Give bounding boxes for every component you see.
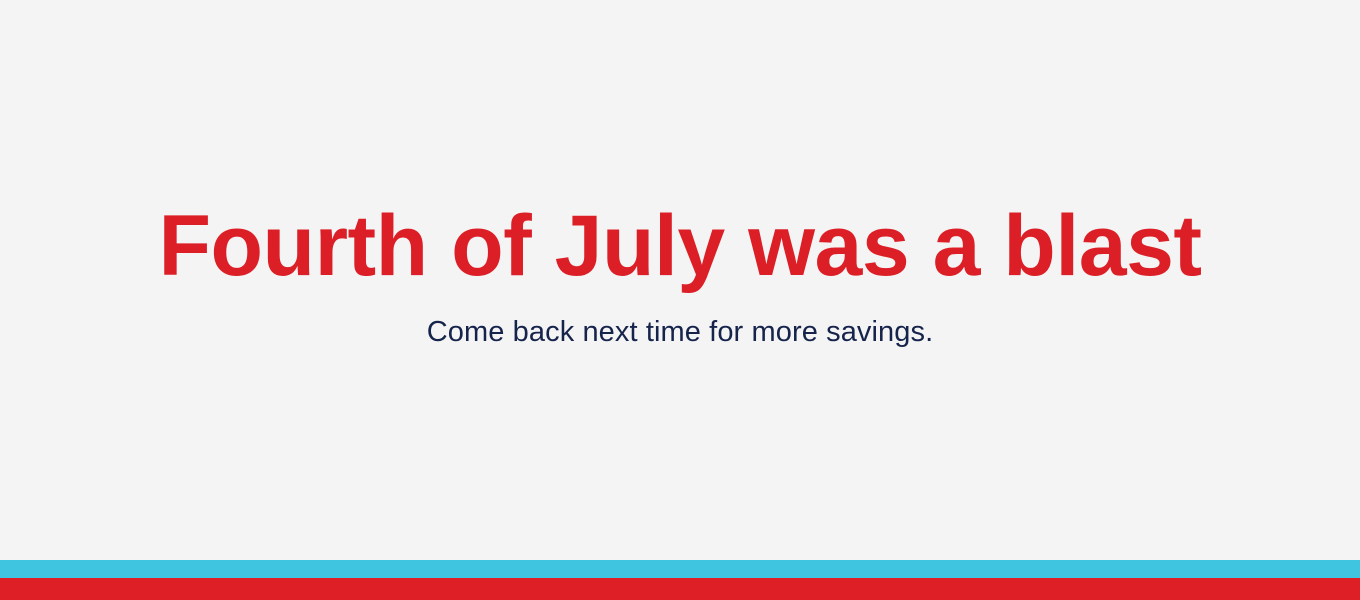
cyan-stripe <box>0 560 1360 578</box>
subtitle-text: Come back next time for more savings. <box>0 315 1360 349</box>
page-title: Fourth of July was a blast <box>0 196 1360 296</box>
red-stripe <box>0 578 1360 600</box>
promo-banner: Fourth of July was a blast Come back nex… <box>0 0 1360 600</box>
